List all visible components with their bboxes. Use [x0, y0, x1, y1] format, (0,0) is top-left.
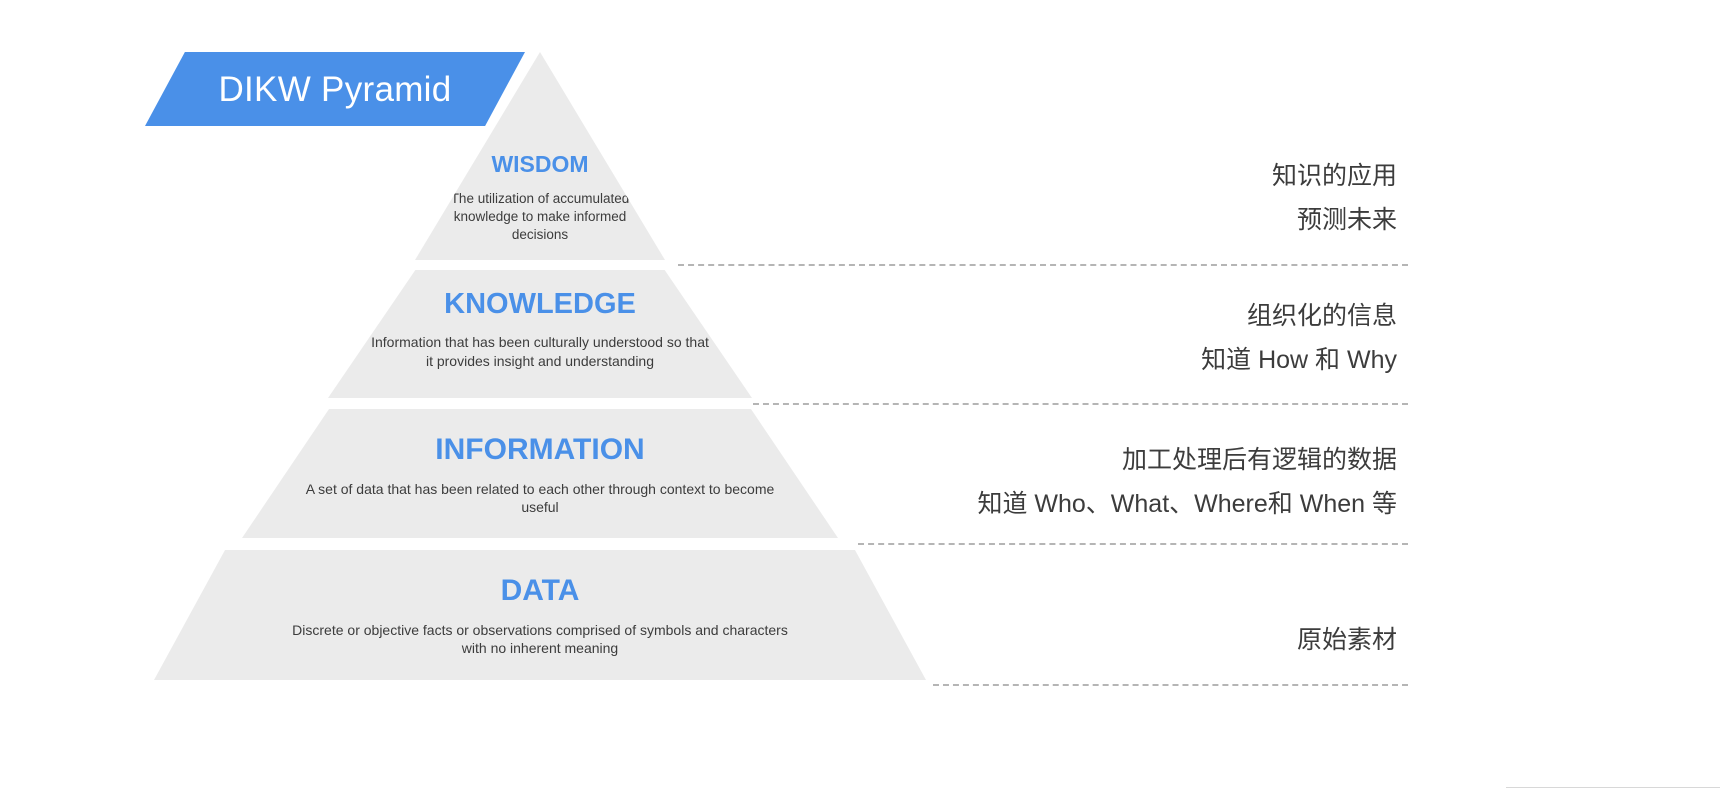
annotation-information: 加工处理后有逻辑的数据 知道 Who、What、Where和 When 等 — [977, 438, 1397, 526]
tier-data-title: DATA — [154, 575, 926, 607]
annotation-wisdom: 知识的应用 预测未来 — [1272, 154, 1397, 242]
separator-line-information — [858, 543, 1408, 545]
tier-information-description: A set of data that has been related to e… — [300, 480, 780, 517]
annotation-wisdom-line2: 预测未来 — [1272, 198, 1397, 242]
annotation-data-line1: 原始素材 — [1297, 618, 1397, 662]
tier-knowledge-title: KNOWLEDGE — [328, 289, 752, 319]
separator-line-knowledge — [753, 403, 1408, 405]
annotation-knowledge-line2: 知道 How 和 Why — [1201, 338, 1397, 382]
bottom-divider — [1506, 787, 1720, 788]
annotation-wisdom-line1: 知识的应用 — [1272, 154, 1397, 198]
pyramid-shape: WISDOM The utilization of accumulated kn… — [0, 0, 1100, 792]
dikw-pyramid-diagram: DIKW Pyramid WISDOM The utilization of a… — [0, 0, 1720, 792]
annotation-knowledge-line1: 组织化的信息 — [1201, 294, 1397, 338]
tier-data-content: DATA Discrete or objective facts or obse… — [154, 575, 926, 658]
tier-knowledge-description: Information that has been culturally und… — [370, 333, 710, 370]
pyramid-tier-wisdom[interactable]: WISDOM The utilization of accumulated kn… — [415, 52, 665, 260]
tier-wisdom-content: WISDOM The utilization of accumulated kn… — [415, 152, 665, 244]
tier-wisdom-title: WISDOM — [415, 152, 665, 176]
annotation-data: 原始素材 — [1297, 618, 1397, 662]
pyramid-tier-knowledge[interactable]: KNOWLEDGE Information that has been cult… — [328, 270, 752, 398]
annotation-information-line1: 加工处理后有逻辑的数据 — [977, 438, 1397, 482]
tier-information-title: INFORMATION — [242, 434, 838, 466]
tier-data-description: Discrete or objective facts or observati… — [290, 621, 790, 658]
pyramid-tier-data[interactable]: DATA Discrete or objective facts or obse… — [154, 550, 926, 680]
annotation-knowledge: 组织化的信息 知道 How 和 Why — [1201, 294, 1397, 382]
separator-line-data — [933, 684, 1408, 686]
tier-information-content: INFORMATION A set of data that has been … — [242, 434, 838, 517]
tier-knowledge-content: KNOWLEDGE Information that has been cult… — [328, 289, 752, 371]
tier-wisdom-description: The utilization of accumulated knowledge… — [435, 190, 645, 244]
pyramid-tier-information[interactable]: INFORMATION A set of data that has been … — [242, 409, 838, 538]
separator-line-wisdom — [678, 264, 1408, 266]
annotation-information-line2: 知道 Who、What、Where和 When 等 — [977, 482, 1397, 526]
